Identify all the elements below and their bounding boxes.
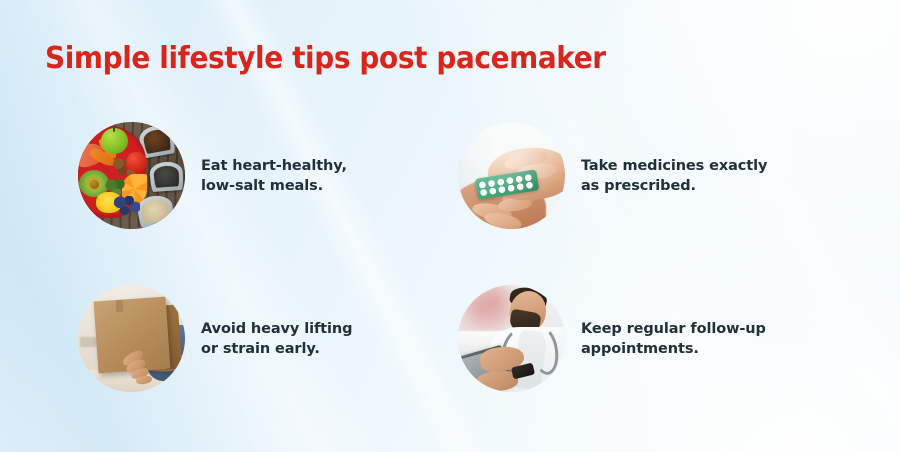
tip-label-follow-up-appointments: Keep regular follow-up appointments. bbox=[581, 319, 766, 359]
blueberries bbox=[114, 196, 140, 216]
tip-item-follow-up-appointments: Keep regular follow-up appointments. bbox=[458, 285, 766, 392]
tips-grid: Eat heart-healthy, low-salt meals. Take … bbox=[0, 0, 900, 452]
heart-healthy-food-photo bbox=[78, 122, 185, 229]
soft-light-overlay bbox=[458, 122, 565, 229]
carrying-cardboard-box-photo bbox=[78, 285, 185, 392]
doctor-with-tablet-photo bbox=[458, 285, 565, 392]
tip-item-take-medicines: Take medicines exactly as prescribed. bbox=[458, 122, 767, 229]
avocado-pit bbox=[90, 180, 99, 189]
tip-label-avoid-heavy-lifting: Avoid heavy lifting or strain early. bbox=[201, 319, 352, 359]
medication-blister-pack-photo bbox=[458, 122, 565, 229]
tip-item-heart-healthy-meals: Eat heart-healthy, low-salt meals. bbox=[78, 122, 347, 229]
green-apple bbox=[101, 128, 128, 154]
tomato bbox=[126, 152, 147, 172]
tip-label-heart-healthy-meals: Eat heart-healthy, low-salt meals. bbox=[201, 156, 347, 196]
tip-label-take-medicines: Take medicines exactly as prescribed. bbox=[581, 156, 767, 196]
infographic-canvas: Simple lifestyle tips post pacemaker bbox=[0, 0, 900, 452]
tip-item-avoid-heavy-lifting: Avoid heavy lifting or strain early. bbox=[78, 285, 352, 392]
heart-bowl-chia-seeds bbox=[149, 161, 184, 192]
apple-stem bbox=[113, 126, 115, 132]
